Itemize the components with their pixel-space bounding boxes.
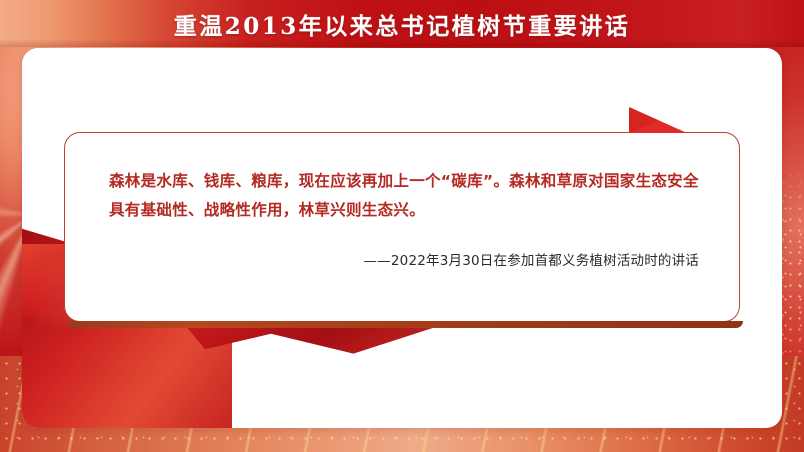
quote-attribution: ——2022年3月30日在参加首都义务植树活动时的讲话	[109, 249, 699, 269]
page-title: 重温2013年以来总书记植树节重要讲话	[174, 7, 631, 41]
slide-canvas: 重温2013年以来总书记植树节重要讲话 森林是水库、钱库、粮库，现在应该再加上一…	[0, 0, 804, 452]
quote-card: 森林是水库、钱库、粮库，现在应该再加上一个“碳库”。森林和草原对国家生态安全具有…	[64, 132, 740, 322]
red-triangle-flag-icon	[629, 107, 687, 134]
quote-text: 森林是水库、钱库、粮库，现在应该再加上一个“碳库”。森林和草原对国家生态安全具有…	[109, 167, 699, 225]
title-bar: 重温2013年以来总书记植树节重要讲话	[0, 0, 804, 47]
